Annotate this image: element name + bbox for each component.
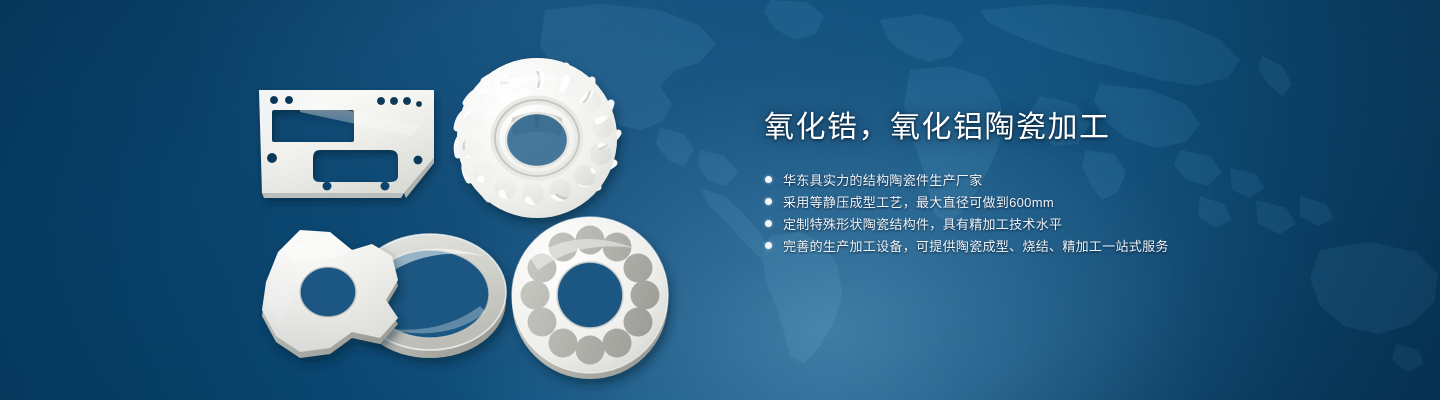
list-item: 完善的生产加工设备，可提供陶瓷成型、烧结、精加工一站式服务 [764,235,1384,256]
banner-feature-list: 华东具实力的结构陶瓷件生产厂家 采用等静压成型工艺，最大直径可做到600mm 定… [764,169,1384,256]
bullet-dot-icon [765,242,772,249]
hero-banner: 氧化锆，氧化铝陶瓷加工 华东具实力的结构陶瓷件生产厂家 采用等静压成型工艺，最大… [0,0,1440,400]
list-item-label: 定制特殊形状陶瓷结构件，具有精加工技术水平 [783,214,1062,233]
list-item-label: 采用等静压成型工艺，最大直径可做到600mm [783,192,1054,211]
list-item-label: 完善的生产加工设备，可提供陶瓷成型、烧结、精加工一站式服务 [783,236,1169,255]
bullet-dot-icon [765,198,772,205]
list-item-label: 华东具实力的结构陶瓷件生产厂家 [783,170,983,189]
list-item: 定制特殊形状陶瓷结构件，具有精加工技术水平 [764,213,1384,234]
bullet-dot-icon [765,176,772,183]
list-item: 华东具实力的结构陶瓷件生产厂家 [764,169,1384,190]
bullet-dot-icon [765,220,772,227]
banner-copy: 氧化锆，氧化铝陶瓷加工 华东具实力的结构陶瓷件生产厂家 采用等静压成型工艺，最大… [764,108,1384,257]
banner-headline: 氧化锆，氧化铝陶瓷加工 [764,108,1384,148]
list-item: 采用等静压成型工艺，最大直径可做到600mm [764,191,1384,212]
